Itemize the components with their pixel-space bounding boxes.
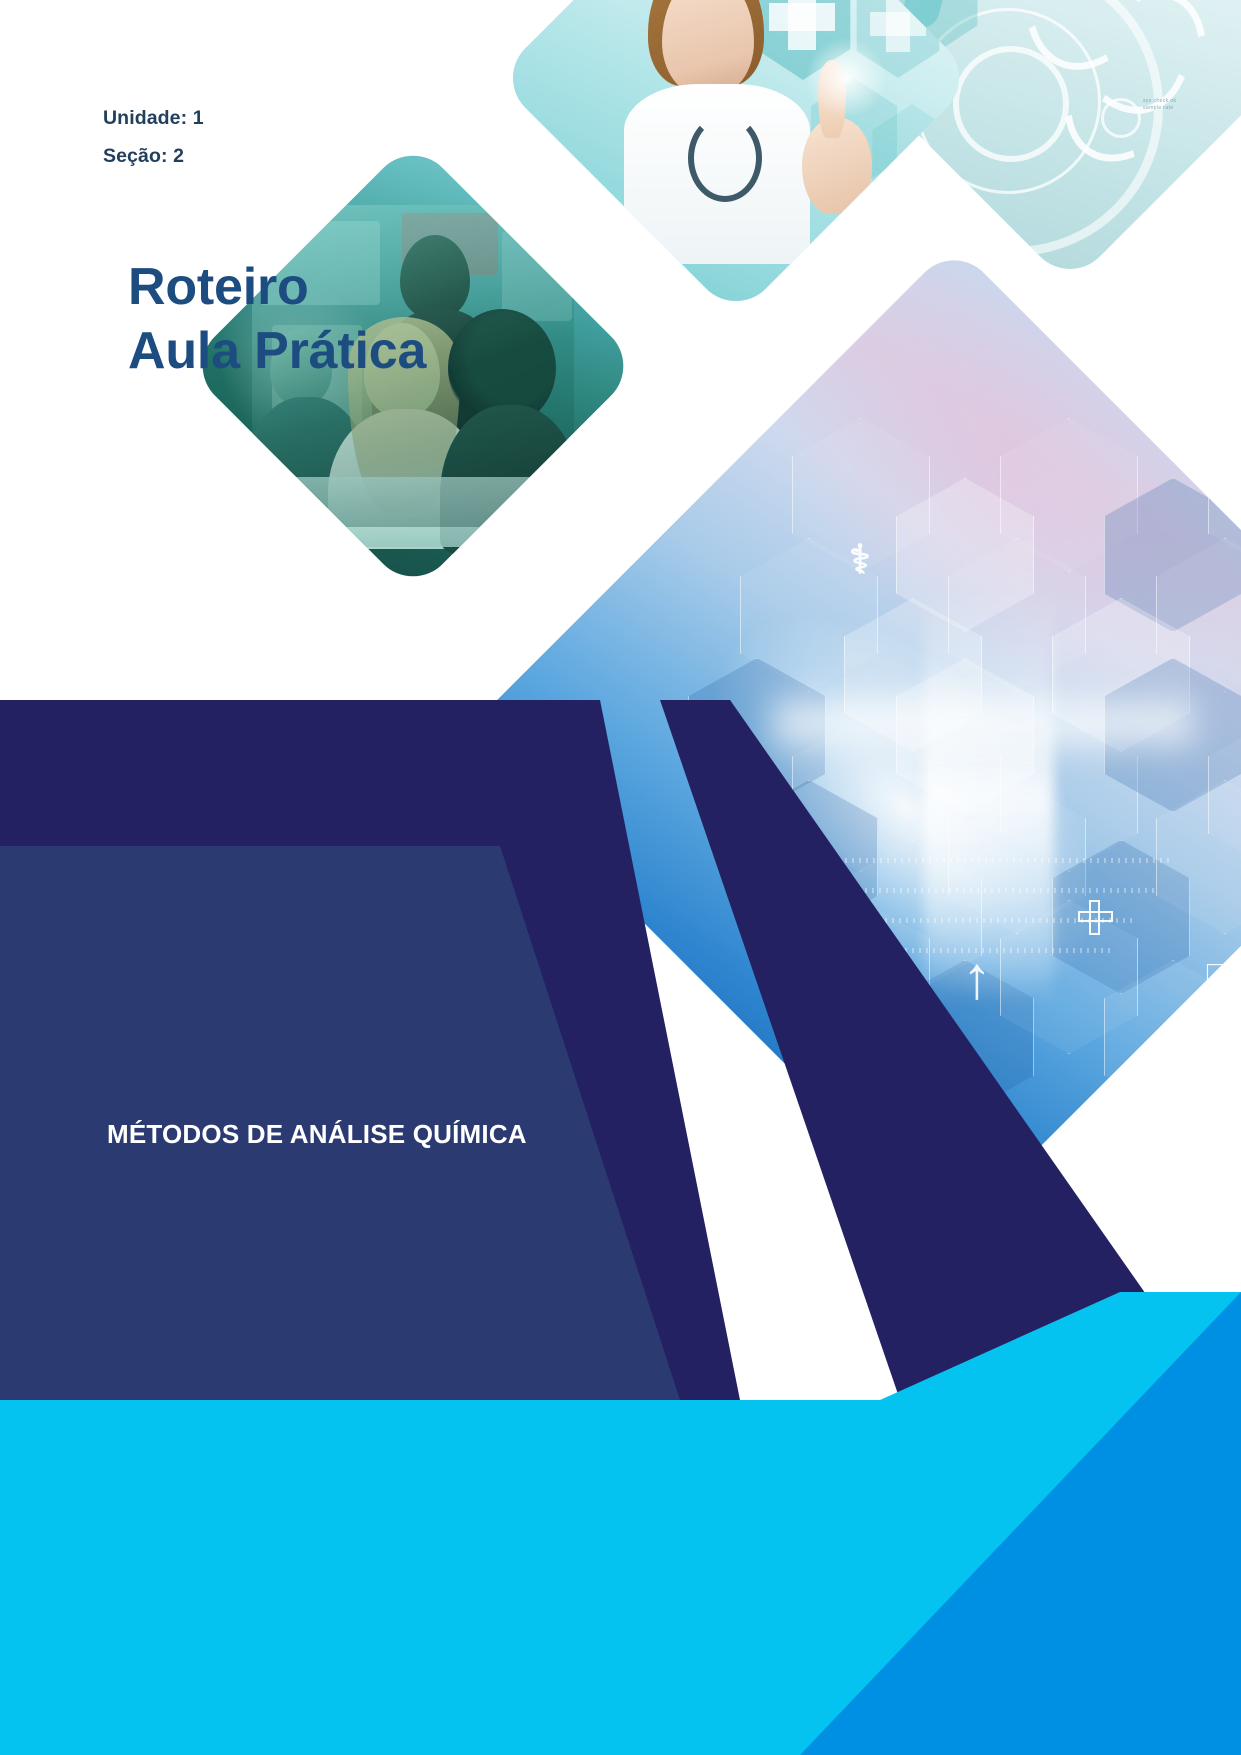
page-title-line2: Aula Prática [128,319,426,383]
hud-text-right: sys check ok sample rate [1143,98,1176,112]
medical-cross-icon [1078,900,1112,934]
page-title-line1: Roteiro [128,255,426,319]
artwork-tile-doctor [496,0,977,318]
page-title: Roteiro Aula Prática [128,255,426,383]
unidade-label: Unidade: 1 [103,107,204,130]
artwork-tile-dna: 02.13.14 val 0156 sample rate 44.1 sys c… [837,0,1241,286]
up-arrow-icon: ↑ [960,948,994,1018]
bowl-of-hygieia-icon: ⚕ [832,540,888,580]
course-title: MÉTODOS DE ANÁLISE QUÍMICA [107,1119,527,1150]
hud-text-left: 02.13.14 val 0156 sample rate 44.1 sys c… [911,84,958,105]
secao-label: Seção: 2 [103,145,184,168]
cover-page: 02.13.14 val 0156 sample rate 44.1 sys c… [0,0,1241,1755]
square-icon: □ [1198,958,1234,988]
